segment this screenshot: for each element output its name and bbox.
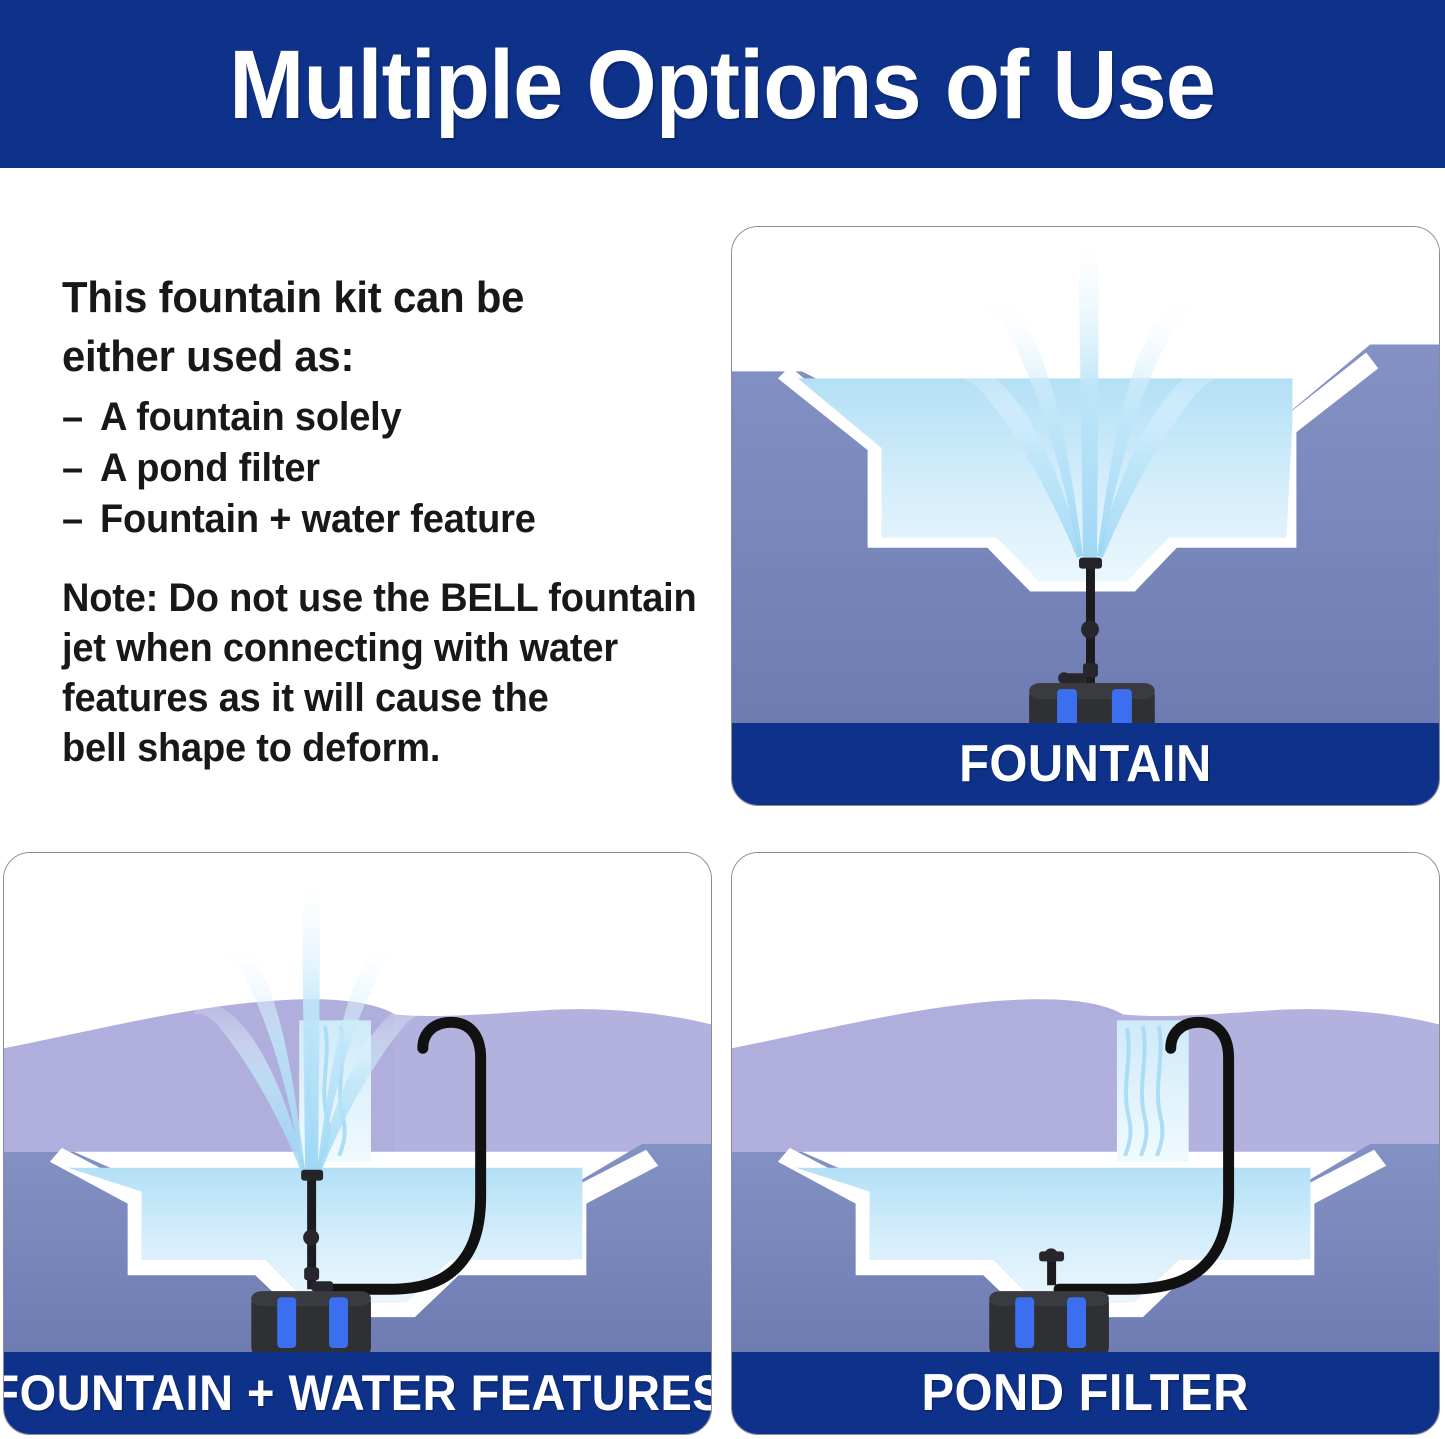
panel-fountain-water-features: FOUNTAIN + WATER FEATURES xyxy=(3,852,712,1435)
bullet-label: A pond filter xyxy=(100,443,320,494)
scene-fountain-water-features xyxy=(4,853,711,1352)
pump-unit xyxy=(1029,683,1155,723)
dash-icon: – xyxy=(62,392,100,443)
bullet-label: Fountain + water feature xyxy=(100,494,536,545)
dash-icon: – xyxy=(62,494,100,545)
panel-pond-filter: POND FILTER xyxy=(731,852,1440,1435)
hill-backdrop-left xyxy=(732,999,1123,1152)
dash-icon: – xyxy=(62,443,100,494)
panel-label-text: POND FILTER xyxy=(922,1363,1249,1423)
note-line-2: jet when connecting with water xyxy=(62,623,670,673)
panel-label-fountain: FOUNTAIN xyxy=(732,723,1439,805)
panel-label-pond-filter: POND FILTER xyxy=(732,1352,1439,1434)
panel-label-fountain-water-features: FOUNTAIN + WATER FEATURES xyxy=(4,1352,711,1434)
scene-pond-filter xyxy=(732,853,1439,1352)
pump-unit xyxy=(989,1291,1109,1352)
note-block: Note: Do not use the BELL fountain jet w… xyxy=(62,573,702,773)
list-item: – A pond filter xyxy=(62,443,670,494)
note-line-1: Note: Do not use the BELL fountain xyxy=(62,573,670,623)
pump-unit xyxy=(251,1291,371,1352)
panel-label-text: FOUNTAIN + WATER FEATURES xyxy=(3,1364,712,1422)
lead-line-2: either used as: xyxy=(62,327,670,386)
list-item: – Fountain + water feature xyxy=(62,494,670,545)
list-item: – A fountain solely xyxy=(62,392,670,443)
header-band: Multiple Options of Use xyxy=(0,0,1445,168)
panel-fountain: FOUNTAIN xyxy=(731,226,1440,806)
note-line-4: bell shape to deform. xyxy=(62,723,670,773)
spray-center-jet xyxy=(302,879,320,1172)
scene-fountain xyxy=(732,227,1439,723)
hill-backdrop-right xyxy=(395,1009,711,1152)
usage-bullet-list: – A fountain solely – A pond filter – Fo… xyxy=(62,392,702,545)
panel-label-text: FOUNTAIN xyxy=(959,734,1212,794)
pond-filter-illustration xyxy=(732,853,1439,1352)
bullet-label: A fountain solely xyxy=(100,392,402,443)
page-title: Multiple Options of Use xyxy=(230,36,1216,133)
fountain-water-features-illustration xyxy=(4,853,711,1352)
note-line-3: features as it will cause the xyxy=(62,673,670,723)
description-column: This fountain kit can be either used as:… xyxy=(62,268,702,773)
fountain-illustration xyxy=(732,227,1439,723)
lead-line-1: This fountain kit can be xyxy=(62,268,670,327)
